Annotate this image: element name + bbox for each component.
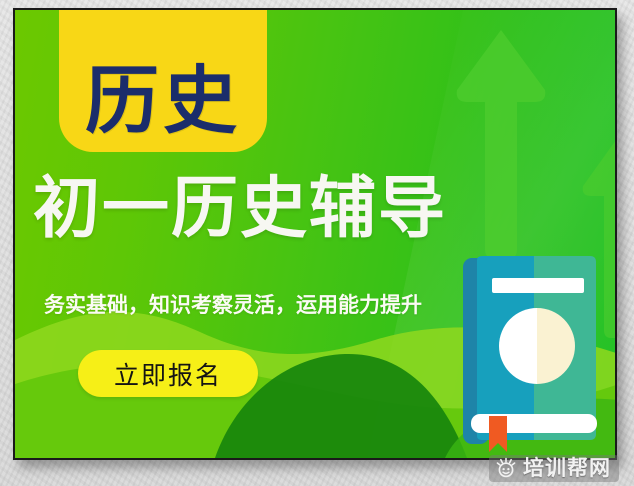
page-background: 历史 初一历史辅导 务实基础，知识考察灵活，运用能力提升 立即报名 — [0, 0, 634, 486]
subject-badge: 历史 — [59, 10, 267, 152]
site-watermark: 培训帮网 — [489, 455, 619, 482]
banner-frame: 历史 初一历史辅导 务实基础，知识考察灵活，运用能力提升 立即报名 — [13, 8, 617, 460]
enroll-now-button[interactable]: 立即报名 — [78, 350, 258, 397]
course-promo-banner: 历史 初一历史辅导 务实基础，知识考察灵活，运用能力提升 立即报名 — [15, 10, 615, 458]
subject-badge-label: 历史 — [85, 64, 241, 138]
watermark-label: 培训帮网 — [523, 458, 611, 479]
book-icon — [459, 254, 609, 454]
up-arrow-icon-large — [455, 28, 547, 258]
banner-subtitle: 务实基础，知识考察灵活，运用能力提升 — [44, 289, 422, 319]
smiley-face-icon — [495, 457, 517, 479]
banner-headline: 初一历史辅导 — [33, 173, 447, 243]
